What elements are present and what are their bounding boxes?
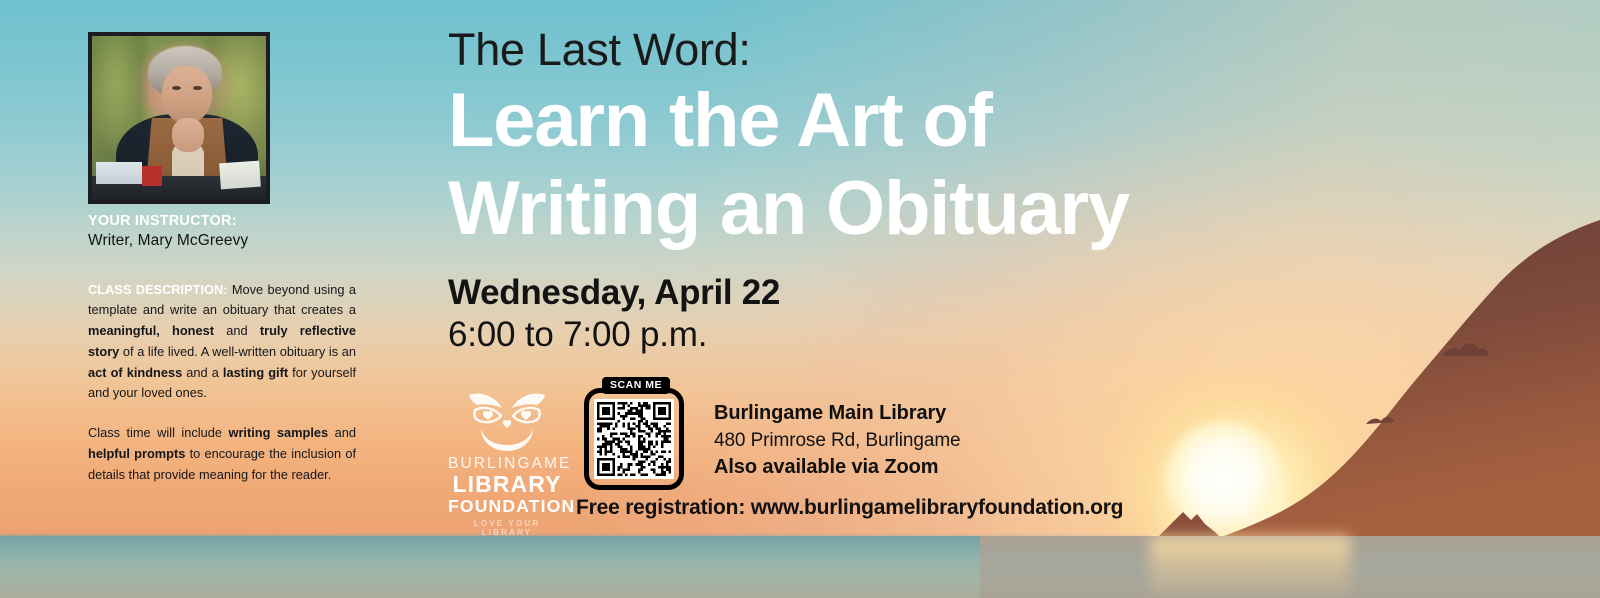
logo-tagline: LOVE YOUR LIBRARY — [448, 519, 566, 537]
instructor-column: YOUR INSTRUCTOR: Writer, Mary McGreevy C… — [88, 32, 360, 485]
headland-silhouette — [1180, 220, 1600, 550]
venue-name: Burlingame Main Library — [714, 400, 961, 428]
event-kicker: The Last Word: — [448, 24, 1208, 76]
instructor-name: Writer, Mary McGreevy — [88, 231, 360, 252]
qr-frame — [584, 388, 684, 490]
instructor-photo-frame — [88, 32, 270, 204]
class-description-paragraph-2: Class time will include writing samples … — [88, 423, 356, 485]
venue-info: Burlingame Main Library 480 Primrose Rd,… — [714, 388, 961, 481]
scan-me-label: SCAN ME — [602, 377, 670, 394]
logo-text-burlingame: BURLINGAME — [448, 455, 566, 472]
venue-zoom-note: Also available via Zoom — [714, 454, 961, 482]
title-column: The Last Word: Learn the Art of Writing … — [448, 24, 1208, 357]
venue-address: 480 Primrose Rd, Burlingame — [714, 428, 961, 454]
registration-line[interactable]: Free registration: www.burlingamelibrary… — [576, 496, 1123, 520]
qr-code-block[interactable]: SCAN ME — [584, 388, 688, 490]
event-date: Wednesday, April 22 — [448, 272, 1208, 315]
qr-code-icon[interactable] — [594, 399, 674, 479]
event-headline-line-1: Learn the Art of — [448, 78, 1208, 164]
event-time: 6:00 to 7:00 p.m. — [448, 314, 1208, 357]
logo-text-library: LIBRARY — [448, 472, 566, 497]
sun-reflection — [1150, 536, 1350, 598]
event-banner: YOUR INSTRUCTOR: Writer, Mary McGreevy C… — [0, 0, 1600, 598]
class-description: CLASS DESCRIPTION: Move beyond using a t… — [88, 280, 356, 485]
instructor-photo — [92, 36, 266, 200]
owl-face-icon — [461, 388, 553, 452]
class-description-paragraph-1: CLASS DESCRIPTION: Move beyond using a t… — [88, 280, 356, 404]
instructor-label: YOUR INSTRUCTOR: — [88, 212, 360, 231]
library-foundation-logo[interactable]: BURLINGAME LIBRARY FOUNDATION LOVE YOUR … — [448, 388, 566, 537]
logo-text-foundation: FOUNDATION — [448, 497, 566, 516]
event-headline-line-2: Writing an Obituary — [448, 166, 1208, 252]
